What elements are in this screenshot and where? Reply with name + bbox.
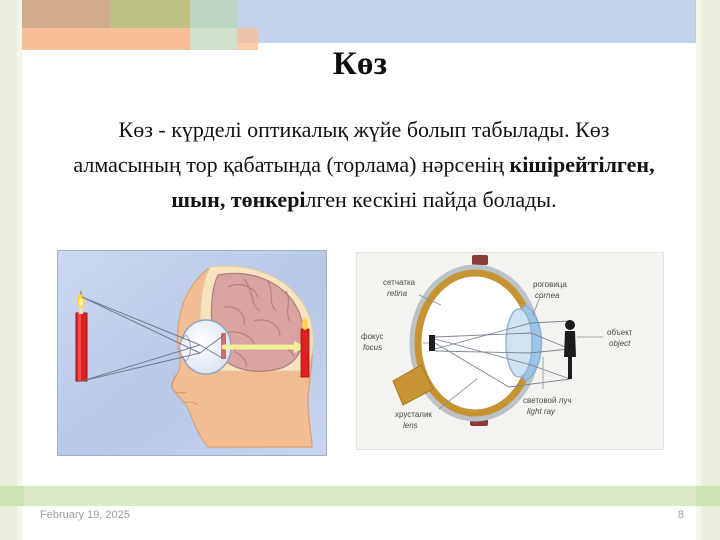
- slide-body-text: Көз - күрделі оптикалық жүйе болып табыл…: [24, 112, 704, 217]
- header-band-mint: [190, 0, 237, 50]
- label-focus-ru: фокус: [361, 332, 384, 341]
- footer-band-left-accent: [0, 486, 24, 506]
- footer-page-number: 8: [678, 509, 684, 521]
- header-band-blue: [0, 0, 720, 43]
- header-band-olive: [0, 0, 190, 50]
- slide-title: Көз: [0, 46, 720, 83]
- label-retina-ru: сетчатка: [383, 278, 416, 287]
- header-band-green: [0, 0, 237, 50]
- footer-date: February 19, 2025: [40, 509, 130, 521]
- label-focus-en: focus: [363, 343, 382, 352]
- footer-band: [0, 486, 720, 506]
- figure-head-brain-eye: [57, 250, 327, 456]
- body-text-bold-segment: шын, төнкері: [171, 187, 305, 212]
- label-lens-en: lens: [403, 421, 418, 430]
- body-line-3: шын, төнкерілген кескіні пайда болады.: [28, 182, 700, 217]
- body-text-bold-segment: кішірейтілген,: [510, 152, 655, 177]
- eye-cross-section-icon: сетчатка retina фокус focus хрусталик le…: [357, 253, 663, 449]
- label-cornea-en: cornea: [535, 291, 560, 300]
- label-cornea-ru: роговица: [533, 280, 567, 289]
- figure-eye-cross-section: сетчатка retina фокус focus хрусталик le…: [356, 252, 664, 450]
- label-retina-en: retina: [387, 289, 408, 298]
- body-text-segment: алмасының тор қабатында (торлама) нәрсен…: [73, 152, 509, 177]
- head-brain-eye-candle-icon: [58, 251, 326, 455]
- body-text-segment: Көз - күрделі оптикалық жүйе болып табыл…: [119, 117, 610, 142]
- label-light-ray-ru: световой луч: [523, 396, 572, 405]
- body-line-1: Көз - күрделі оптикалық жүйе болып табыл…: [28, 112, 700, 147]
- footer-band-right-accent: [696, 486, 720, 506]
- label-lens-ru: хрусталик: [395, 410, 432, 419]
- label-light-ray-en: light ray: [527, 407, 556, 416]
- body-line-2: алмасының тор қабатында (торлама) нәрсен…: [28, 147, 700, 182]
- header-band-olive-light: [110, 0, 190, 50]
- body-text-segment: лген кескіні пайда болады.: [306, 187, 557, 212]
- label-object-ru: объект: [607, 328, 633, 337]
- label-object-en: object: [609, 339, 631, 348]
- slide: Көз Көз - күрделі оптикалық жүйе болып т…: [0, 0, 720, 540]
